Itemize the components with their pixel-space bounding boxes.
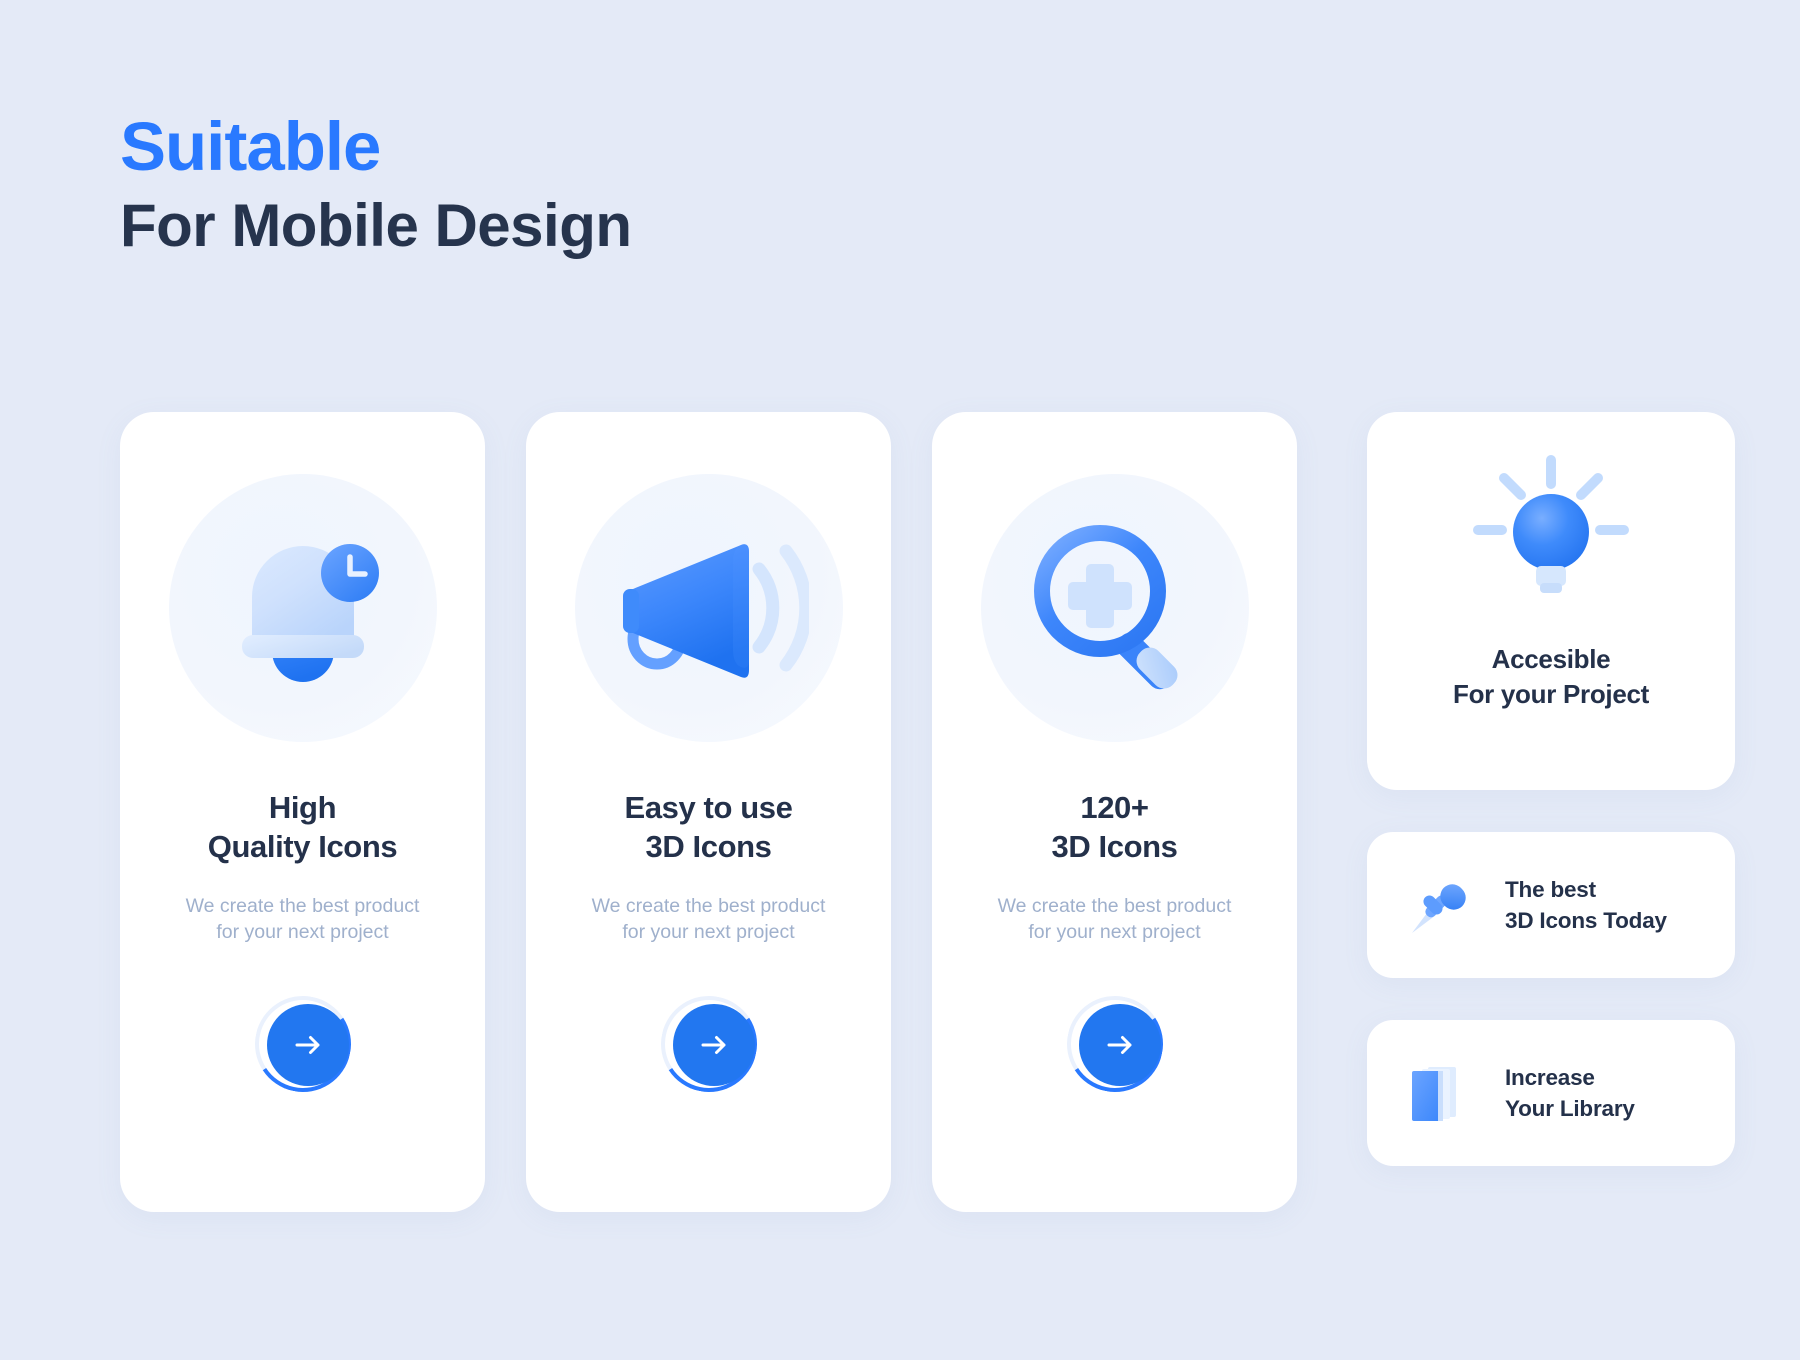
card-title: 120+ 3D Icons [1051,788,1177,866]
card-title: High Quality Icons [208,788,397,866]
arrow-right-icon[interactable] [267,1004,349,1086]
icon-backdrop [169,474,437,742]
card-desc-line-1: We create the best product [592,894,826,920]
feature-card-list: High Quality Icons We create the best pr… [120,412,1297,1212]
page-root: Suitable For Mobile Design [0,0,1800,1360]
lightbulb-3d-icon [1466,452,1636,607]
side-card-list: Accesible For your Project [1367,412,1735,1166]
magnifier-plus-3d-icon [1020,511,1210,706]
feature-card-120-plus-icons[interactable]: 120+ 3D Icons We create the best product… [932,412,1297,1212]
card-title-line-2: 3D Icons [625,827,793,866]
card-description: We create the best product for your next… [998,894,1232,945]
card-title-line-1: High [208,788,397,827]
headline-line-2: For Mobile Design [120,188,632,263]
side-card-accesible[interactable]: Accesible For your Project [1367,412,1735,790]
card-desc-line-2: for your next project [592,920,826,946]
card-description: We create the best product for your next… [186,894,420,945]
arrow-right-icon[interactable] [1079,1004,1161,1086]
side-card-title: The best 3D Icons Today [1505,874,1667,936]
card-title: Easy to use 3D Icons [625,788,793,866]
card-cta-button[interactable] [661,996,757,1092]
feature-card-easy-to-use[interactable]: Easy to use 3D Icons We create the best … [526,412,891,1212]
arrow-right-icon[interactable] [673,1004,755,1086]
card-desc-line-2: for your next project [998,920,1232,946]
headline-line-1: Suitable [120,112,632,182]
books-3d-icon [1401,1054,1479,1132]
side-card-title-line-1: Accesible [1453,642,1649,677]
card-title-line-1: Easy to use [625,788,793,827]
pushpin-3d-icon [1401,866,1479,944]
side-card-title-line-2: Your Library [1505,1093,1635,1124]
side-card-title-line-2: For your Project [1453,677,1649,712]
side-card-title-line-2: 3D Icons Today [1505,905,1667,936]
icon-backdrop [981,474,1249,742]
card-cta-button[interactable] [1067,996,1163,1092]
megaphone-3d-icon [609,511,809,706]
side-card-title: Increase Your Library [1505,1062,1635,1124]
icon-backdrop [1466,464,1636,594]
card-desc-line-2: for your next project [186,920,420,946]
card-description: We create the best product for your next… [592,894,826,945]
side-card-the-best-3d-icons[interactable]: The best 3D Icons Today [1367,832,1735,978]
side-card-increase-your-library[interactable]: Increase Your Library [1367,1020,1735,1166]
side-card-title: Accesible For your Project [1453,642,1649,712]
side-card-title-line-1: Increase [1505,1062,1635,1093]
card-desc-line-1: We create the best product [186,894,420,920]
feature-card-high-quality-icons[interactable]: High Quality Icons We create the best pr… [120,412,485,1212]
card-desc-line-1: We create the best product [998,894,1232,920]
page-title: Suitable For Mobile Design [120,112,632,263]
side-card-title-line-1: The best [1505,874,1667,905]
card-cta-button[interactable] [255,996,351,1092]
card-title-line-2: Quality Icons [208,827,397,866]
card-title-line-1: 120+ [1051,788,1177,827]
icon-backdrop [575,474,843,742]
card-title-line-2: 3D Icons [1051,827,1177,866]
bell-clock-3d-icon [208,511,398,706]
